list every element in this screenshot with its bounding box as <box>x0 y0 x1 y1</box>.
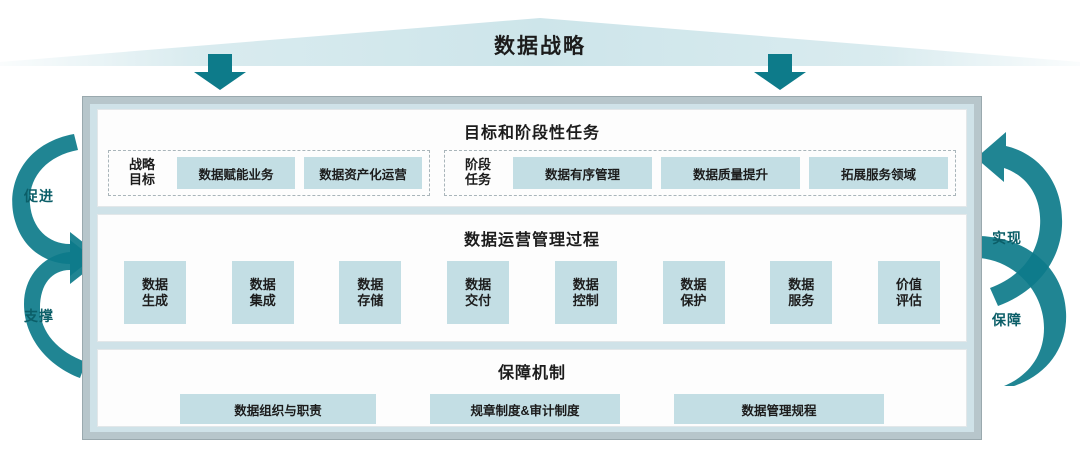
section-goals-title: 目标和阶段性任务 <box>98 119 966 143</box>
right-arrow-label-assure: 保障 <box>992 310 1022 330</box>
box-line-2: 生成 <box>142 293 168 309</box>
label-line-2: 任务 <box>465 173 491 188</box>
process-box[interactable]: 数据 服务 <box>770 261 832 324</box>
goal-group-strategy-label: 战略 目标 <box>116 157 168 189</box>
process-box[interactable]: 数据 保护 <box>663 261 725 324</box>
section-assurance-title: 保障机制 <box>98 359 966 383</box>
label-line-2: 目标 <box>129 173 155 188</box>
goal-chip[interactable]: 数据质量提升 <box>661 157 800 189</box>
box-line-2: 控制 <box>573 293 599 309</box>
box-line-1: 数据 <box>681 277 707 293</box>
goal-chip[interactable]: 拓展服务领域 <box>809 157 948 189</box>
box-line-1: 数据 <box>465 277 491 293</box>
box-line-2: 评估 <box>896 293 922 309</box>
label-line-1: 阶段 <box>465 158 491 173</box>
section-goals: 目标和阶段性任务 战略 目标 数据赋能业务 数据资产化运营 阶段 任务 <box>97 109 967 207</box>
box-line-2: 服务 <box>788 293 814 309</box>
goal-chip[interactable]: 数据有序管理 <box>513 157 652 189</box>
right-curved-arrows-icon <box>974 128 1070 388</box>
main-frame-inner: 目标和阶段性任务 战略 目标 数据赋能业务 数据资产化运营 阶段 任务 <box>90 104 974 432</box>
left-arrow-label-promote: 促进 <box>24 186 54 206</box>
process-box[interactable]: 数据 集成 <box>232 261 294 324</box>
down-arrow-left <box>192 54 248 90</box>
diagram-canvas: 数据战略 促进 支撑 实现 保障 <box>0 0 1080 464</box>
box-line-1: 数据 <box>142 277 168 293</box>
box-line-2: 集成 <box>250 293 276 309</box>
goal-chip[interactable]: 数据赋能业务 <box>177 157 295 189</box>
box-line-1: 价值 <box>896 277 922 293</box>
assurance-box[interactable]: 数据组织与职责 <box>180 394 376 424</box>
strategy-banner: 数据战略 <box>0 18 1080 66</box>
right-arrow-group: 实现 保障 <box>974 128 1070 388</box>
box-line-2: 交付 <box>465 293 491 309</box>
down-arrow-icon <box>192 54 248 90</box>
box-line-1: 数据 <box>573 277 599 293</box>
goal-group-phase: 阶段 任务 数据有序管理 数据质量提升 拓展服务领域 <box>444 150 956 196</box>
process-box[interactable]: 数据 存储 <box>339 261 401 324</box>
process-box[interactable]: 数据 生成 <box>124 261 186 324</box>
box-line-1: 数据 <box>357 277 383 293</box>
assurance-boxes: 数据组织与职责 规章制度&审计制度 数据管理规程 <box>98 394 966 424</box>
down-arrow-icon <box>752 54 808 90</box>
box-line-1: 数据 <box>788 277 814 293</box>
label-line-1: 战略 <box>129 158 155 173</box>
page-title: 数据战略 <box>0 30 1080 60</box>
process-box[interactable]: 价值 评估 <box>878 261 940 324</box>
section-process: 数据运营管理过程 数据 生成 数据 集成 数据 存储 数据 <box>97 214 967 342</box>
left-arrow-label-support: 支撑 <box>24 306 54 326</box>
goal-chip[interactable]: 数据资产化运营 <box>304 157 422 189</box>
main-frame: 目标和阶段性任务 战略 目标 数据赋能业务 数据资产化运营 阶段 任务 <box>82 96 982 440</box>
goal-group-strategy: 战略 目标 数据赋能业务 数据资产化运营 <box>108 150 430 196</box>
process-boxes: 数据 生成 数据 集成 数据 存储 数据 交付 <box>98 261 966 324</box>
section-process-title: 数据运营管理过程 <box>98 226 966 250</box>
goal-groups: 战略 目标 数据赋能业务 数据资产化运营 阶段 任务 数据有序管理 数据质量提升 <box>98 150 966 196</box>
box-line-1: 数据 <box>250 277 276 293</box>
process-box[interactable]: 数据 交付 <box>447 261 509 324</box>
goal-group-phase-label: 阶段 任务 <box>452 157 504 189</box>
box-line-2: 存储 <box>357 293 383 309</box>
process-box[interactable]: 数据 控制 <box>555 261 617 324</box>
assurance-box[interactable]: 规章制度&审计制度 <box>430 394 620 424</box>
box-line-2: 保护 <box>681 293 707 309</box>
down-arrow-right <box>752 54 808 90</box>
right-arrow-label-realize: 实现 <box>992 228 1022 248</box>
section-assurance: 保障机制 数据组织与职责 规章制度&审计制度 数据管理规程 <box>97 349 967 427</box>
assurance-box[interactable]: 数据管理规程 <box>674 394 884 424</box>
